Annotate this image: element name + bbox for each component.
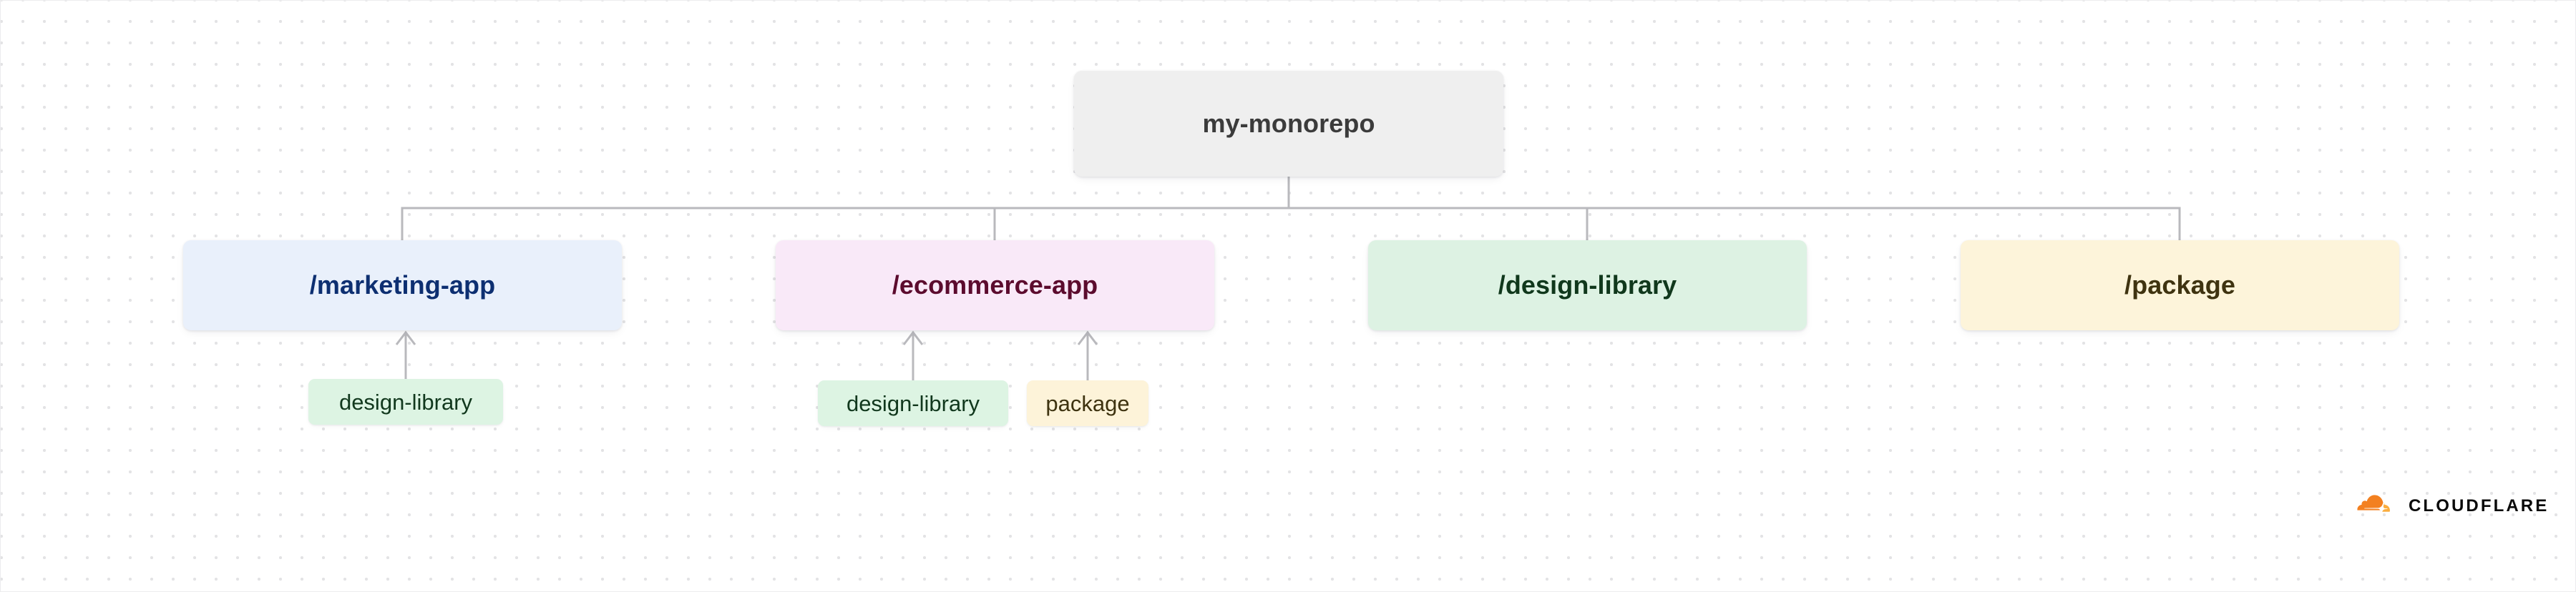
cloudflare-wordmark: CLOUDFLARE <box>2409 498 2549 515</box>
node-label: my-monorepo <box>1202 111 1375 137</box>
arrowhead-marketing-design-library <box>396 332 415 345</box>
node-ecommerce-app[interactable]: /ecommerce-app <box>776 240 1214 330</box>
node-my-monorepo[interactable]: my-monorepo <box>1074 71 1503 177</box>
dependency-chip-label: design-library <box>847 393 980 415</box>
cloudflare-logo: CLOUDFLARE <box>2351 494 2549 518</box>
node-design-library[interactable]: /design-library <box>1368 240 1807 330</box>
diagram-canvas: my-monorepo /marketing-app /ecommerce-ap… <box>0 0 2576 592</box>
node-label: /ecommerce-app <box>892 272 1098 298</box>
node-package[interactable]: /package <box>1961 240 2399 330</box>
dependency-chip-label: design-library <box>339 391 472 413</box>
dependency-chip-design-library[interactable]: design-library <box>308 379 503 425</box>
dependency-chip-design-library[interactable]: design-library <box>818 380 1008 426</box>
node-marketing-app[interactable]: /marketing-app <box>183 240 622 330</box>
arrowhead-ecommerce-package <box>1078 332 1097 345</box>
dependency-chip-label: package <box>1045 393 1129 415</box>
cloudflare-cloud-icon <box>2351 494 2399 518</box>
dependency-chip-package[interactable]: package <box>1027 380 1148 426</box>
node-label: /package <box>2124 272 2235 298</box>
node-label: /design-library <box>1498 272 1677 298</box>
node-label: /marketing-app <box>310 272 495 298</box>
arrowhead-ecommerce-design-library <box>904 332 922 345</box>
